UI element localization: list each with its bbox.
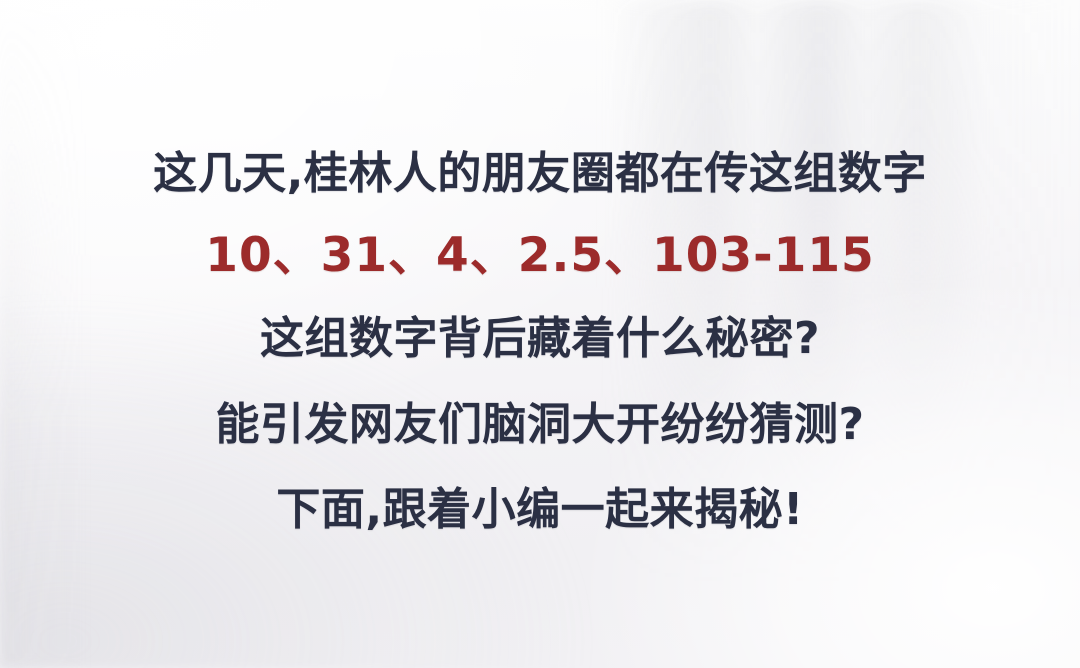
poster-text-stack: 这几天,桂林人的朋友圈都在传这组数字 10、31、4、2.5、103-115 这… (0, 0, 1080, 668)
poster-canvas: 这几天,桂林人的朋友圈都在传这组数字 10、31、4、2.5、103-115 这… (0, 0, 1080, 668)
poster-line-lead-in: 这几天,桂林人的朋友圈都在传这组数字 (0, 152, 1080, 196)
poster-line-number-series: 10、31、4、2.5、103-115 (0, 232, 1080, 279)
poster-line-call-to-action: 下面,跟着小编一起来揭秘! (0, 488, 1080, 532)
poster-line-question-1: 这组数字背后藏着什么秘密? (0, 317, 1080, 361)
poster-line-question-2: 能引发网友们脑洞大开纷纷猜测? (0, 403, 1080, 447)
